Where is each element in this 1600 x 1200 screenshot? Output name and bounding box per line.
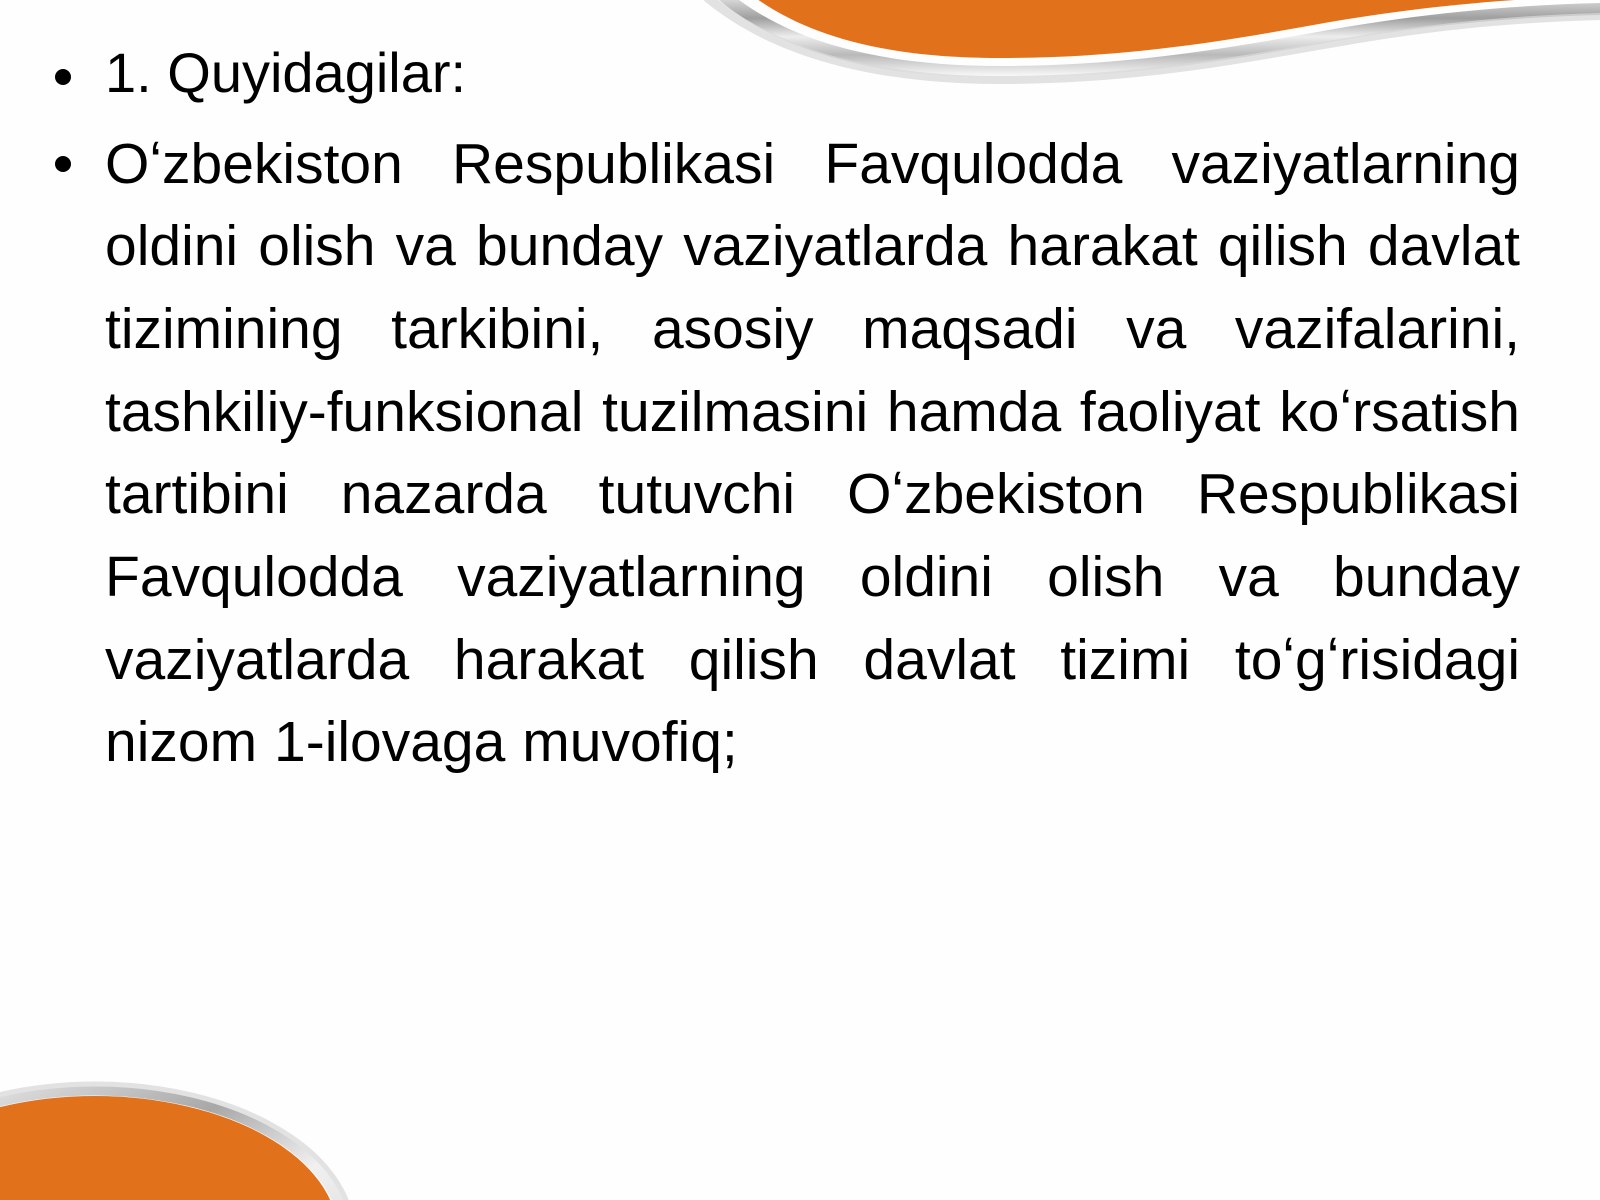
corner-rim-silver <box>0 1090 345 1200</box>
bullet-list: 1. Quyidagilar: Oʻzbekiston Respublikasi… <box>0 42 1600 784</box>
corner-rim-outer <box>0 1084 353 1200</box>
bullet-dot-icon <box>55 156 71 172</box>
list-item: 1. Quyidagilar: <box>0 42 1600 105</box>
orange-corner-ellipse <box>0 1020 520 1200</box>
corner-fill-orange <box>0 1096 338 1200</box>
list-item: Oʻzbekiston Respublikasi Favqulodda vazi… <box>0 123 1600 784</box>
bullet-text: Oʻzbekiston Respublikasi Favqulodda vazi… <box>105 123 1520 784</box>
slide-body: 1. Quyidagilar: Oʻzbekiston Respublikasi… <box>0 0 1600 784</box>
bullet-text: 1. Quyidagilar: <box>105 42 1520 105</box>
bullet-dot-icon <box>55 69 71 85</box>
presentation-slide: 1. Quyidagilar: Oʻzbekiston Respublikasi… <box>0 0 1600 1200</box>
